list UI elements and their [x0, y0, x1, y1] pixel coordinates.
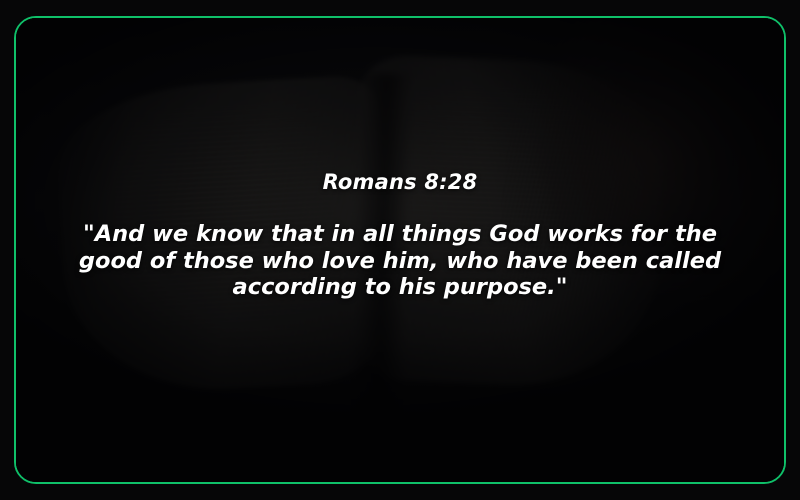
- verse-line-3: according to his purpose.": [70, 274, 730, 301]
- verse-line-2: good of those who love him, who have bee…: [70, 248, 730, 275]
- screenshot-canvas: Romans 8:28 "And we know that in all thi…: [0, 0, 800, 500]
- verse-line-1: "And we know that in all things God work…: [70, 221, 730, 248]
- verse-reference: Romans 8:28: [44, 170, 756, 194]
- bible-verse-card: Romans 8:28 "And we know that in all thi…: [14, 16, 786, 484]
- verse-body: "And we know that in all things God work…: [70, 221, 730, 301]
- verse-text-block: Romans 8:28 "And we know that in all thi…: [16, 170, 784, 301]
